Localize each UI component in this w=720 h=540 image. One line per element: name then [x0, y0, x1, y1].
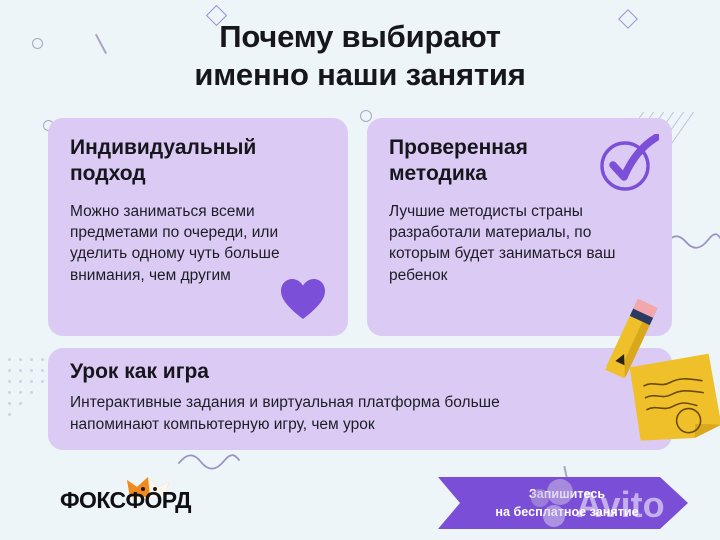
feature-card-body: Лучшие методисты страны разработали мате… — [389, 201, 656, 286]
wave-line-icon — [178, 452, 240, 472]
note-icon — [628, 352, 720, 448]
cta-line2: на бесплатное занятие — [495, 503, 638, 521]
feature-card-heading: Индивидуальный подход — [70, 135, 330, 186]
cta-banner[interactable]: Запишитесь на бесплатное занятие — [438, 477, 688, 529]
brand-logo-text: ФОКСФОРД — [60, 487, 191, 514]
circle-outline-icon — [360, 110, 372, 122]
feature-card-lesson-as-game[interactable]: Урок как игра Интерактивные задания и ви… — [48, 348, 672, 450]
cta-line1: Запишитесь — [529, 485, 605, 503]
feature-card-heading: Урок как игра — [70, 359, 654, 385]
feature-card-heading: Проверенная методика — [389, 135, 602, 186]
page-title: Почему выбирают именно наши занятия — [0, 18, 720, 93]
heart-icon — [280, 278, 326, 320]
poster-canvas: Почему выбирают именно наши занятия Инди… — [0, 0, 720, 540]
feature-card-body: Интерактивные задания и виртуальная плат… — [70, 392, 552, 436]
wave-line-icon — [664, 232, 720, 252]
brand-logo[interactable]: ФОКСФОРД — [60, 478, 210, 514]
page-title-line2: именно наши занятия — [0, 56, 720, 94]
check-circle-icon — [597, 134, 659, 194]
feature-card-body: Можно заниматься всеми предметами по оче… — [70, 201, 332, 286]
page-title-line1: Почему выбирают — [0, 18, 720, 56]
feature-card-individual-approach[interactable]: Индивидуальный подход Можно заниматься в… — [48, 118, 348, 336]
